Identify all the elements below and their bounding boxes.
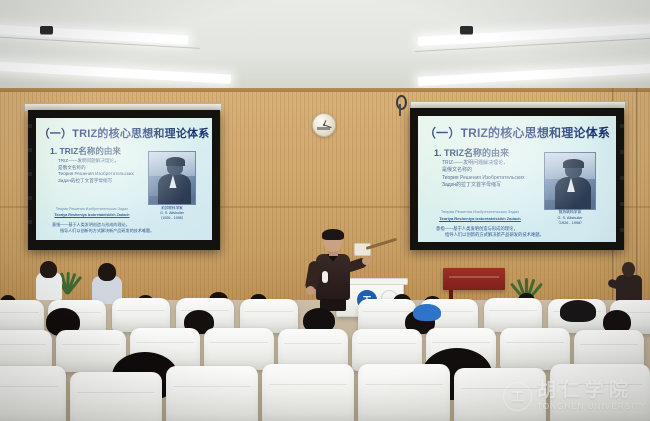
red-draped-table <box>443 268 505 290</box>
auditorium-seat <box>204 328 274 370</box>
slide-body: TRIZ——发明问题解决理论， 是俄文名称的 Теория Решения Из… <box>442 160 524 189</box>
presenter-speaker <box>300 231 372 309</box>
slide-body-line: 是俄文名称的 <box>58 165 134 172</box>
auditorium-seat <box>0 300 44 334</box>
clock-center-pin <box>323 124 325 126</box>
portrait-caption-line: （1926 - 1998） <box>144 216 200 221</box>
slide-footer: 意指——基于人类发明创造与形成的理论， 指导人们以创新的方式解决新产品研发的技术… <box>52 222 154 234</box>
screen-surface: （一）TRIZ的核心思想和理论体系 1. TRIZ名称的由来 TRIZ——发明问… <box>418 116 616 242</box>
auditorium-seat <box>70 372 162 421</box>
wall-top-trim <box>0 88 650 92</box>
slide-subtitle: 1. TRIZ名称的由来 <box>434 146 509 159</box>
altshuller-portrait <box>148 151 196 205</box>
left-projection-screen: （一）TRIZ的核心思想和理论体系 1. TRIZ名称的由来 TRIZ——发明问… <box>14 108 230 250</box>
attendee-head <box>622 262 635 277</box>
portrait-caption: 前苏联科学家 G. S. Altshuller （1926 - 1998） <box>540 210 600 227</box>
altshuller-portrait <box>544 152 596 210</box>
table-drape-band <box>449 276 499 278</box>
ceiling-light-strip <box>418 23 650 46</box>
slide-footer-line: 指导人们以创新的方式解决新产品研发的技术难题。 <box>52 228 154 234</box>
russian-translit: Teoriya Resheniya Izobretatelskikh Zadac… <box>44 212 140 218</box>
slide-footer-line: 指导人们以创新的方式解决新产品研发的技术难题。 <box>436 232 544 238</box>
slide-title: （一）TRIZ的核心思想和理论体系 <box>36 125 212 141</box>
slide-body-line: Теория Решения Изобретательских <box>442 175 524 182</box>
auditorium-seat <box>166 366 258 421</box>
screen-surface: （一）TRIZ的核心思想和理论体系 1. TRIZ名称的由来 TRIZ——发明问… <box>36 118 212 240</box>
russian-original: Теория Решения Изобретательских Задач <box>426 209 534 216</box>
russian-name-block: Теория Решения Изобретательских Задач Te… <box>44 206 140 219</box>
russian-name-block: Теория Решения Изобретательских Задач Te… <box>426 209 534 223</box>
microphone-icon <box>322 271 328 283</box>
attendee-head <box>40 261 57 278</box>
presenter-hair <box>322 229 344 240</box>
russian-translit: Teoriya Resheniya Izobretatelskikh Zadac… <box>426 216 534 223</box>
auditorium-seat <box>358 364 450 421</box>
slide-body-line: 是俄文名称的 <box>442 167 524 174</box>
presenter-right-hand <box>362 257 371 265</box>
clock-brand-bar <box>317 127 330 130</box>
attendee-cap-icon <box>560 300 596 322</box>
projector-mount-icon <box>40 26 53 34</box>
auditorium-seat <box>0 366 66 421</box>
auditorium-seat <box>454 368 546 421</box>
slide-body-line: TRIZ——发明问题解决理论， <box>58 158 134 165</box>
lecture-hall-photo: （一）TRIZ的核心思想和理论体系 1. TRIZ名称的由来 TRIZ——发明问… <box>0 0 650 421</box>
slide-content: （一）TRIZ的核心思想和理论体系 1. TRIZ名称的由来 TRIZ——发明问… <box>418 116 616 242</box>
cable-line <box>399 104 401 116</box>
slide-title: （一）TRIZ的核心思想和理论体系 <box>418 124 616 141</box>
russian-original: Теория Решения Изобретательских Задач <box>44 206 140 212</box>
attendee-cap-icon <box>413 304 441 321</box>
slide-footer: 意指——基于人类发明创造与形成的理论， 指导人们以创新的方式解决新产品研发的技术… <box>436 226 544 239</box>
projector-mount-icon <box>460 26 473 34</box>
ceiling <box>0 0 650 92</box>
auditorium-seat <box>112 298 170 332</box>
presenter-left-hand <box>306 286 315 295</box>
screen-right-tabs <box>620 108 624 250</box>
slide-body-line: Задач的拉丁文首字母缩写 <box>58 178 134 185</box>
auditorium-seat <box>550 364 650 421</box>
attendee-head <box>98 263 116 281</box>
auditorium-seat <box>262 364 354 421</box>
portrait-caption-line: （1926 - 1998） <box>540 221 600 227</box>
screen-left-tabs <box>28 110 32 250</box>
right-projection-screen: （一）TRIZ的核心思想和理论体系 1. TRIZ名称的由来 TRIZ——发明问… <box>404 106 630 252</box>
slide-content: （一）TRIZ的核心思想和理论体系 1. TRIZ名称的由来 TRIZ——发明问… <box>36 118 212 240</box>
portrait-caption: 前苏联科学家 G. S. Altshuller （1926 - 1998） <box>144 206 200 222</box>
auditorium-seat <box>484 298 542 332</box>
wall-clock <box>312 113 336 137</box>
slide-body-line: Теория Решения Изобретательских <box>58 171 134 178</box>
slide-body: TRIZ——发明问题解决理论， 是俄文名称的 Теория Решения Из… <box>58 158 134 185</box>
slide-subtitle: 1. TRIZ名称的由来 <box>50 145 121 157</box>
slide-body-line: Задач的拉丁文首字母缩写 <box>442 182 524 189</box>
